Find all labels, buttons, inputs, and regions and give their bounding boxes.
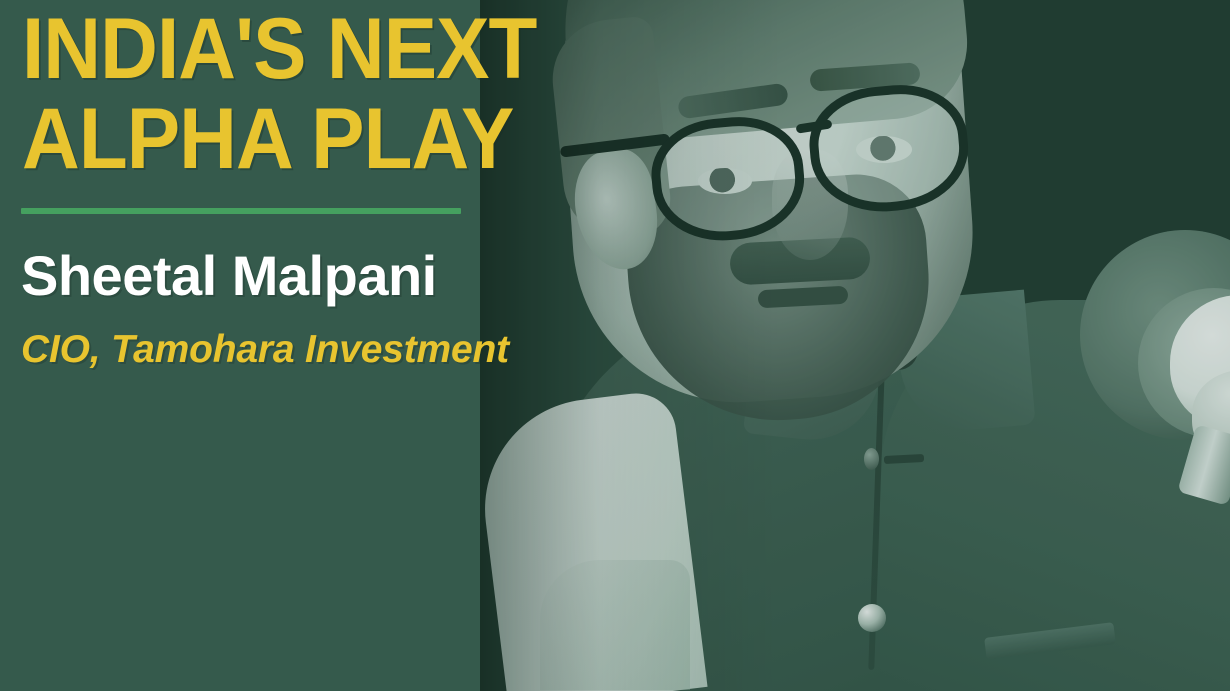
headline-line-1: INDIA'S NEXT: [22, 4, 536, 94]
speaker-name: Sheetal Malpani: [21, 246, 437, 306]
speaker-role: CIO, Tamohara Investment: [21, 328, 509, 372]
divider-rule: [21, 208, 461, 214]
headline-line-2: ALPHA PLAY: [22, 94, 513, 184]
speaker-portrait-image: [480, 0, 1230, 691]
portrait-green-tint: [480, 0, 1230, 691]
broadcast-lower-third-slide: INDIA'S NEXT ALPHA PLAY Sheetal Malpani …: [0, 0, 1230, 691]
